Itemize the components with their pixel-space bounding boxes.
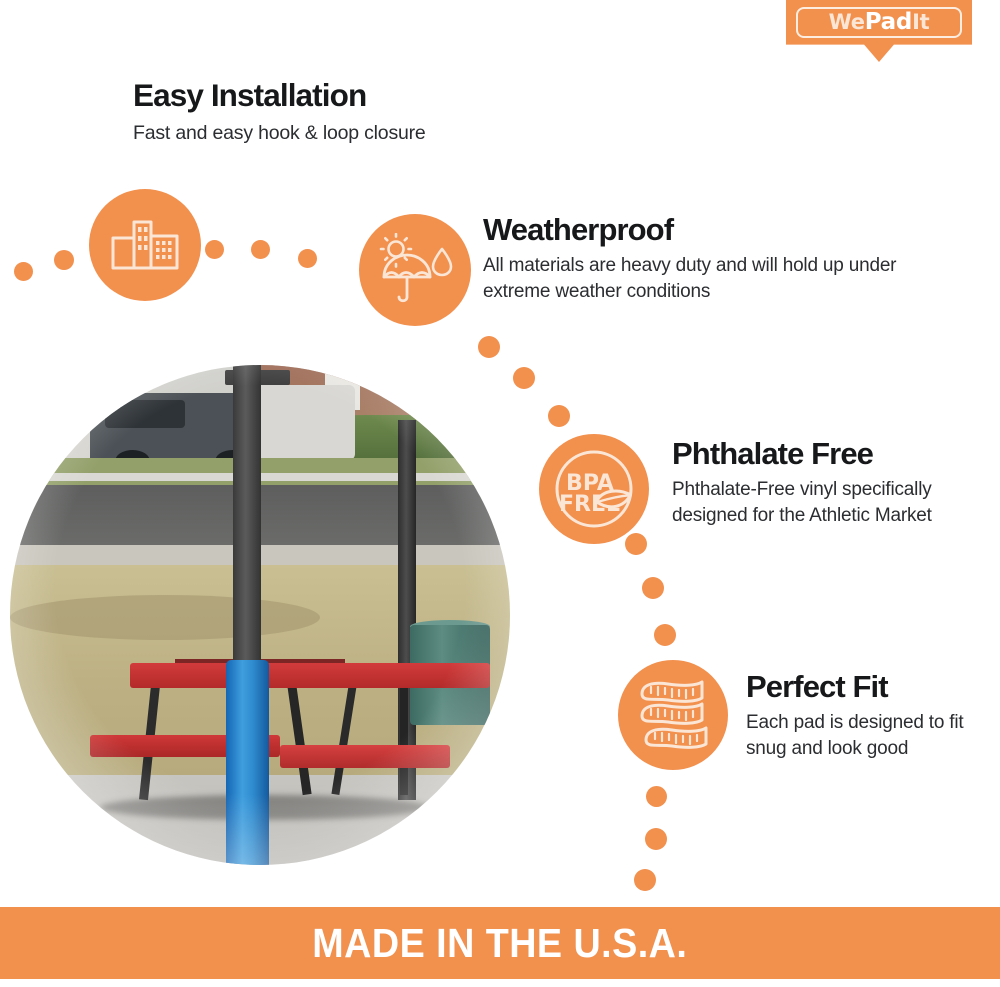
feature-icon-easy-installation xyxy=(89,189,201,301)
umbrella-sun-rain-icon xyxy=(376,233,454,307)
feature-block-phthalate-free: Phthalate Free Phthalate-Free vinyl spec… xyxy=(672,437,982,530)
feature-title-perfect-fit: Perfect Fit xyxy=(746,670,986,704)
trail-dot xyxy=(14,262,33,281)
trail-dot xyxy=(513,367,535,389)
trail-dot xyxy=(298,249,317,268)
trail-dot xyxy=(634,869,656,891)
trail-dot xyxy=(654,624,676,646)
bpa-free-leaf-icon: BPA FREE xyxy=(546,441,642,537)
brand-logo-badge: WePadIt xyxy=(786,0,972,62)
feature-description-weatherproof: All materials are heavy duty and will ho… xyxy=(483,253,903,305)
feature-description-phthalate-free: Phthalate-Free vinyl specifically design… xyxy=(672,477,982,529)
brand-logo-text: WePadIt xyxy=(829,11,930,34)
photo-vignette xyxy=(10,365,510,865)
logo-text-pad: Pad xyxy=(865,9,912,35)
feature-icon-phthalate-free: BPA FREE xyxy=(539,434,649,544)
logo-text-it: It xyxy=(912,10,929,34)
brand-logo-frame: WePadIt xyxy=(796,7,962,38)
feature-title-phthalate-free: Phthalate Free xyxy=(672,437,982,471)
feature-title-weatherproof: Weatherproof xyxy=(483,213,903,247)
feature-description-perfect-fit: Each pad is designed to fit snug and loo… xyxy=(746,710,986,762)
product-photo xyxy=(10,365,510,865)
trail-dot xyxy=(645,828,667,850)
feature-block-easy-installation: Easy Installation Fast and easy hook & l… xyxy=(133,78,563,147)
feature-icon-perfect-fit xyxy=(618,660,728,770)
building-icon xyxy=(110,214,180,276)
trail-dot xyxy=(478,336,500,358)
feature-block-weatherproof: Weatherproof All materials are heavy dut… xyxy=(483,213,903,306)
trail-dot xyxy=(251,240,270,259)
infographic-canvas: WePadIt Easy Installation Fast and easy … xyxy=(0,0,1000,987)
trail-dot xyxy=(548,405,570,427)
feature-description-easy-installation: Fast and easy hook & loop closure xyxy=(133,120,563,147)
trail-dot xyxy=(205,240,224,259)
trail-dot xyxy=(642,577,664,599)
feature-title-easy-installation: Easy Installation xyxy=(133,78,563,113)
feature-icon-weatherproof xyxy=(359,214,471,326)
made-in-usa-banner: MADE IN THE U.S.A. xyxy=(0,907,1000,979)
trail-dot xyxy=(646,786,667,807)
logo-text-we: We xyxy=(829,10,865,34)
made-in-usa-text: MADE IN THE U.S.A. xyxy=(312,920,687,967)
feature-block-perfect-fit: Perfect Fit Each pad is designed to fit … xyxy=(746,670,986,763)
trail-dot xyxy=(54,250,74,270)
measuring-tape-icon xyxy=(630,672,716,758)
